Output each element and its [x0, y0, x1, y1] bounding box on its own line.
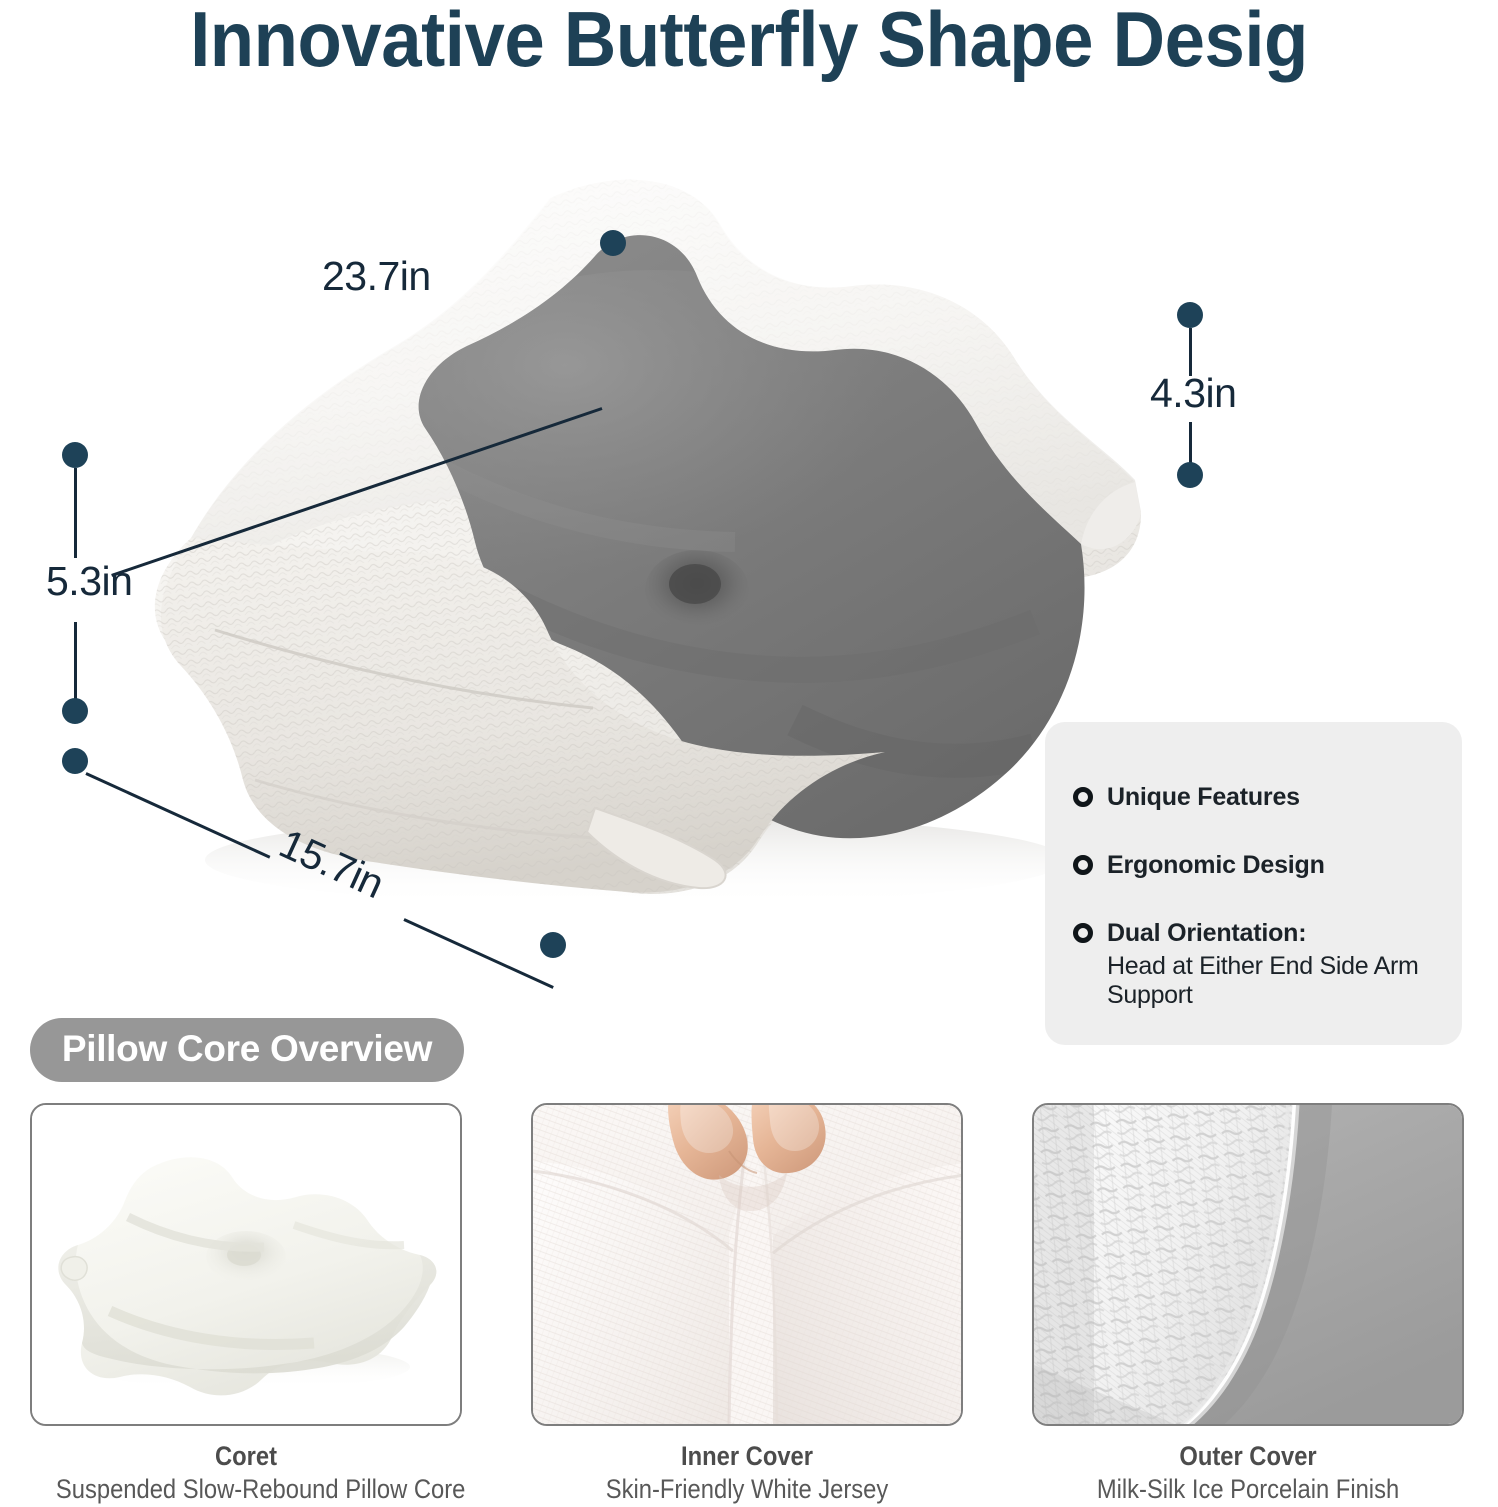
dimension-line [403, 918, 553, 989]
ring-bullet-icon [1073, 787, 1093, 807]
feature-item-sublabel: Head at Either End Side Arm Support [1107, 952, 1462, 1010]
page-title: Innovative Butterfly Shape Desig [52, 0, 1445, 83]
core-card-coret [30, 1103, 462, 1426]
pillow-core-foam-photo [32, 1105, 460, 1424]
core-card-outer-cover [1032, 1103, 1464, 1426]
feature-item-dual-orientation: Dual Orientation: Head at Either End Sid… [1073, 916, 1462, 1010]
dimension-label-width-top: 23.7in [322, 253, 431, 300]
dimension-dot [540, 932, 566, 958]
pillow-core-overview-badge: Pillow Core Overview [30, 1018, 464, 1082]
feature-item-ergonomic-design: Ergonomic Design [1073, 848, 1325, 884]
feature-item-label: Dual Orientation: [1107, 916, 1462, 952]
dimension-label-height-right: 4.3in [1150, 370, 1236, 417]
dimension-dot [62, 698, 88, 724]
ring-bullet-icon [1073, 855, 1093, 875]
caption-title: Outer Cover [1058, 1440, 1438, 1473]
outer-cover-milksilk-photo [1034, 1105, 1462, 1424]
dimension-dot [600, 230, 626, 256]
caption-title: Coret [56, 1440, 436, 1473]
feature-highlights-panel: Unique Features Ergonomic Design Dual Or… [1045, 722, 1462, 1045]
feature-item-label: Ergonomic Design [1107, 848, 1325, 884]
caption-inner-cover: Inner Cover Skin-Friendly White Jersey [557, 1440, 937, 1507]
feature-item-text-group: Dual Orientation: Head at Either End Sid… [1107, 916, 1462, 1010]
ring-bullet-icon [1073, 923, 1093, 943]
dimension-dot [1177, 462, 1203, 488]
dimension-line [74, 622, 77, 706]
core-card-inner-cover [531, 1103, 963, 1426]
pillow-core-overview-label: Pillow Core Overview [62, 1028, 432, 1072]
pillow-product-image [95, 160, 1155, 920]
dimension-dot [62, 748, 88, 774]
dimension-line [74, 468, 77, 558]
caption-outer-cover: Outer Cover Milk-Silk Ice Porcelain Fini… [1058, 1440, 1438, 1507]
inner-cover-jersey-photo [533, 1105, 961, 1424]
feature-item-label: Unique Features [1107, 780, 1300, 816]
dimension-line [1189, 328, 1192, 376]
feature-item-unique-features: Unique Features [1073, 780, 1300, 816]
dimension-dot [62, 442, 88, 468]
caption-subtitle: Suspended Slow-Rebound Pillow Core [56, 1473, 436, 1507]
dimension-dot [1177, 302, 1203, 328]
caption-coret: Coret Suspended Slow-Rebound Pillow Core [56, 1440, 436, 1507]
caption-subtitle: Skin-Friendly White Jersey [557, 1473, 937, 1507]
dimension-label-height-left: 5.3in [46, 558, 132, 605]
caption-title: Inner Cover [557, 1440, 937, 1473]
caption-subtitle: Milk-Silk Ice Porcelain Finish [1058, 1473, 1438, 1507]
